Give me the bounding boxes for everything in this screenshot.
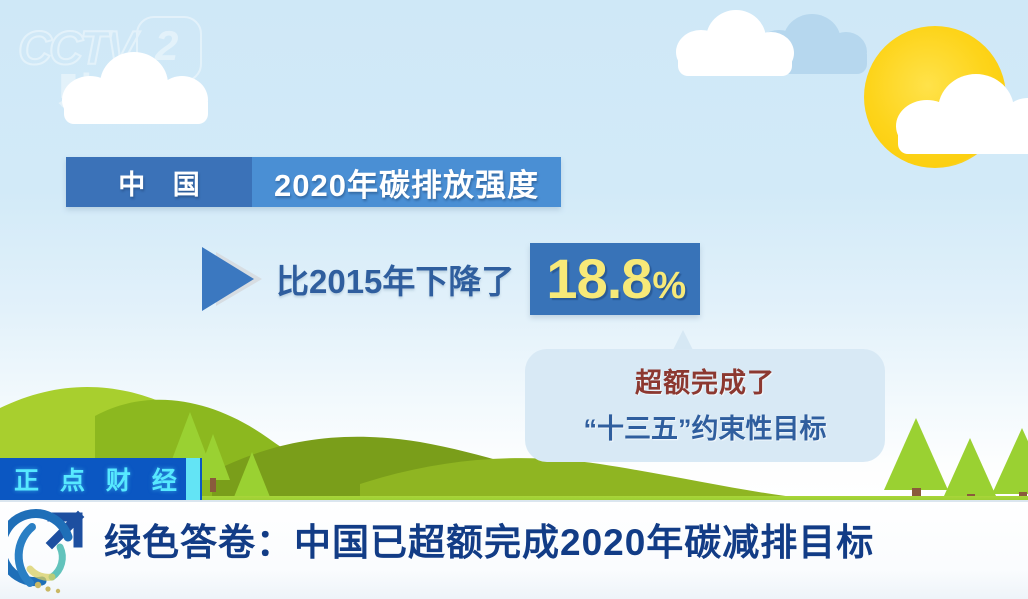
program-tag: 正 点 财 经	[0, 458, 202, 500]
program-tag-label: 正 点 财 经	[14, 461, 184, 497]
statistic-row: 比2015年下降了 18.8 %	[198, 243, 700, 315]
callout-box: 超额完成了 “十三五”约束性目标	[525, 349, 885, 462]
banner-country-label: 中 国	[66, 157, 252, 207]
program-tag-accent	[186, 458, 200, 500]
percentage-value: 18.8	[546, 251, 651, 307]
cctv-2-caijing-watermark: CCTV 2 财经	[18, 14, 228, 106]
comparison-label: 比2015年下降了	[276, 255, 514, 303]
callout-line-2: “十三五”约束性目标	[535, 407, 875, 446]
broadcast-graphic-screen: CCTV 2 财经	[0, 0, 1028, 599]
watermark-channel-number: 2	[155, 22, 178, 70]
program-arc-logo-icon	[8, 503, 94, 595]
cloud-under-sun	[896, 72, 1028, 144]
callout-line-1: 超额完成了	[535, 361, 875, 400]
watermark-subbrand-text: 财经	[60, 64, 154, 112]
percentage-unit: %	[652, 267, 686, 305]
banner-topic-label: 2020年碳排放强度	[252, 157, 561, 207]
arrow-right-icon	[198, 243, 272, 315]
bottom-headline-text: 绿色答卷：中国已超额完成2020年碳减排目标	[104, 512, 874, 566]
percentage-box: 18.8 %	[530, 243, 700, 315]
cloud-top-right	[672, 8, 804, 68]
bottom-bar-divider	[0, 500, 1028, 502]
headline-banner: 中 国 2020年碳排放强度	[66, 157, 561, 207]
